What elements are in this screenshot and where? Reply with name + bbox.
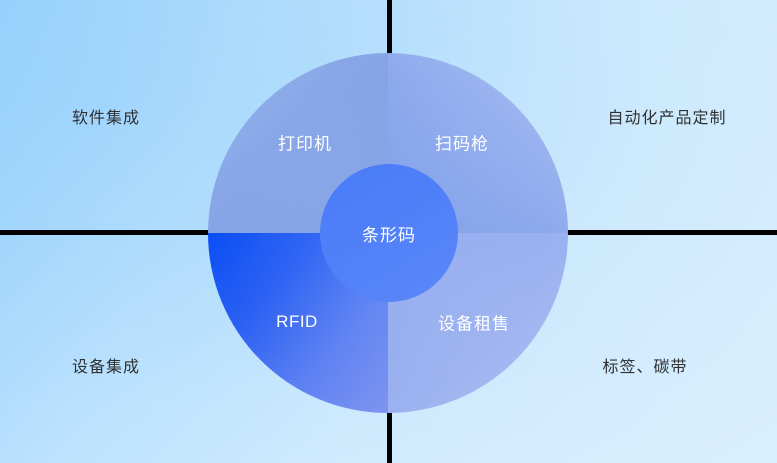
corner-label-labels-ribbons: 标签、碳带 — [602, 353, 687, 377]
corner-label-device-integration: 设备集成 — [72, 353, 140, 377]
quadrant-label-equipment-rental: 设备租售 — [438, 310, 510, 335]
quadrant-label-rfid: RFID — [276, 312, 318, 332]
quadrant-label-printer: 打印机 — [278, 130, 332, 155]
center-node-barcode[interactable]: 条形码 — [320, 164, 458, 302]
center-node-label: 条形码 — [362, 221, 416, 246]
diagram-canvas: 打印机 扫码枪 RFID 设备租售 条形码 软件集成 自动化产品定制 设备集成 … — [0, 0, 777, 463]
corner-label-automation-customization: 自动化产品定制 — [607, 104, 726, 128]
quadrant-label-scanner: 扫码枪 — [435, 130, 489, 155]
corner-label-software-integration: 软件集成 — [72, 104, 140, 128]
